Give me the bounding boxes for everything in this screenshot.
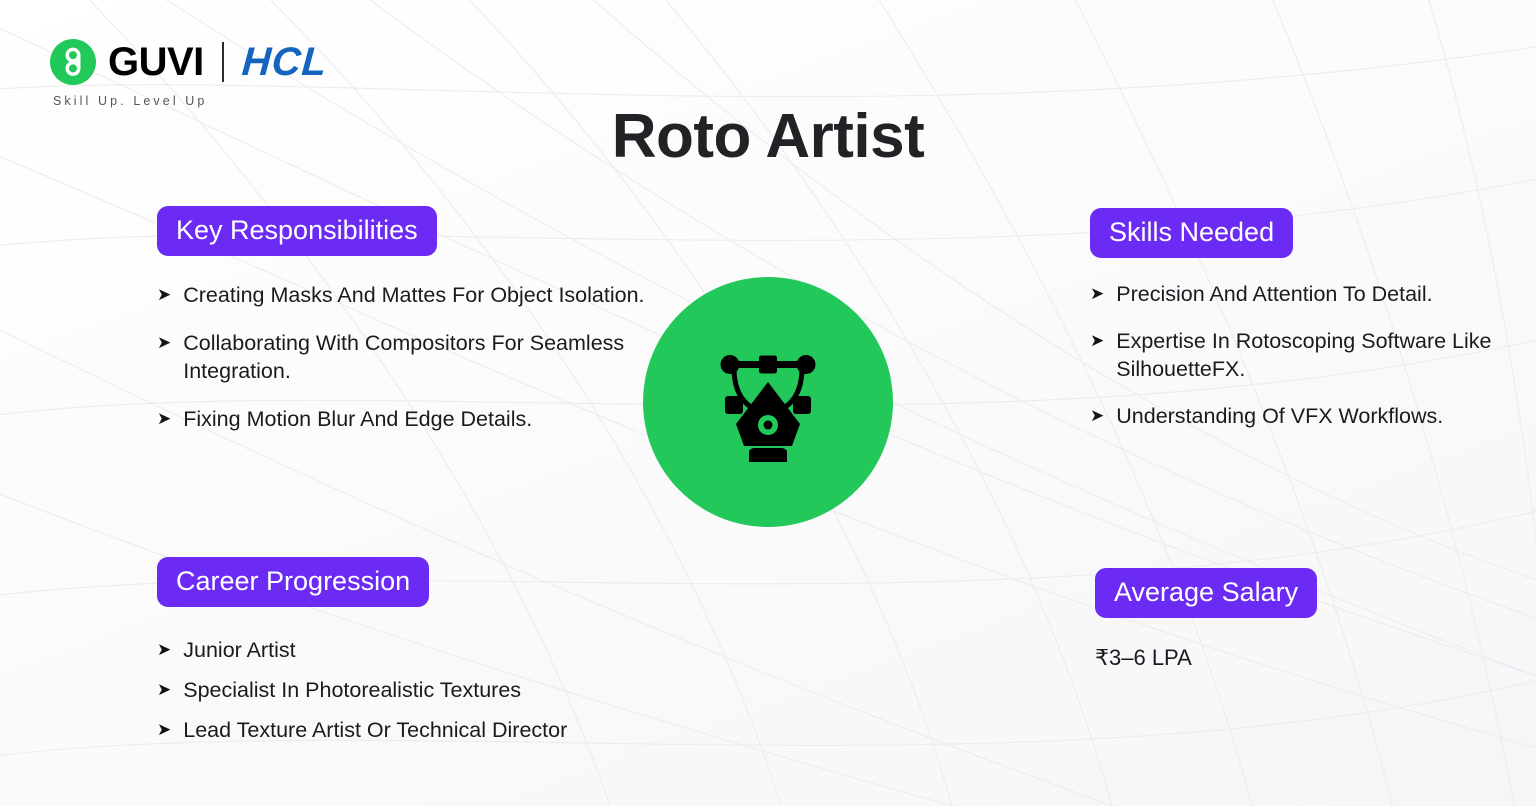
arrow-bullet-icon: ➤ [157,331,171,355]
section-skills-needed: Skills Needed ➤ Precision And Attention … [1090,208,1520,450]
hcl-wordmark: HCL [240,42,328,82]
arrow-bullet-icon: ➤ [1090,329,1104,353]
page-title: Roto Artist [0,104,1536,169]
list-item-label: Lead Texture Artist Or Technical Directo… [183,717,797,745]
list-item-label: Precision And Attention To Detail. [1116,281,1520,309]
badge-average-salary: Average Salary [1095,568,1317,618]
list-item-label: Understanding Of VFX Workflows. [1116,403,1520,431]
pen-tool-icon [708,342,828,462]
list-item: ➤ Creating Masks And Mattes For Object I… [157,282,697,310]
guvi-wordmark: GUVI [108,42,204,82]
arrow-bullet-icon: ➤ [157,638,171,662]
responsibilities-list: ➤ Creating Masks And Mattes For Object I… [157,282,697,434]
list-item: ➤ Fixing Motion Blur And Edge Details. [157,406,697,434]
list-item: ➤ Lead Texture Artist Or Technical Direc… [157,717,797,745]
guvi-g-logo-icon [50,39,96,85]
infographic-poster: GUVI HCL Skill Up. Level Up Roto Artist [0,0,1536,806]
arrow-bullet-icon: ➤ [1090,404,1104,428]
list-item: ➤ Understanding Of VFX Workflows. [1090,403,1520,431]
list-item: ➤ Collaborating With Compositors For Sea… [157,330,697,386]
list-item-label: Creating Masks And Mattes For Object Iso… [183,282,697,310]
list-item-label: Expertise In Rotoscoping Software Like S… [1116,328,1520,384]
salary-value: ₹3–6 LPA [1095,644,1525,673]
arrow-bullet-icon: ➤ [157,283,171,307]
career-list: ➤ Junior Artist ➤ Specialist In Photorea… [157,637,797,745]
badge-career-progression: Career Progression [157,557,429,607]
section-key-responsibilities: Key Responsibilities ➤ Creating Masks An… [157,206,697,434]
list-item-label: Fixing Motion Blur And Edge Details. [183,406,697,434]
list-item-label: Junior Artist [183,637,797,665]
skills-list: ➤ Precision And Attention To Detail. ➤ E… [1090,281,1520,431]
badge-skills-needed: Skills Needed [1090,208,1293,258]
list-item: ➤ Junior Artist [157,637,797,665]
section-career-progression: Career Progression ➤ Junior Artist ➤ Spe… [157,557,797,757]
list-item: ➤ Precision And Attention To Detail. [1090,281,1520,309]
logo-divider [222,42,224,82]
logo-row: GUVI HCL [50,36,327,88]
arrow-bullet-icon: ➤ [157,718,171,742]
badge-key-responsibilities: Key Responsibilities [157,206,437,256]
list-item-label: Collaborating With Compositors For Seaml… [183,330,697,386]
arrow-bullet-icon: ➤ [157,678,171,702]
section-average-salary: Average Salary ₹3–6 LPA [1095,568,1525,673]
list-item: ➤ Specialist In Photorealistic Textures [157,677,797,705]
arrow-bullet-icon: ➤ [157,407,171,431]
brand-logo-block: GUVI HCL Skill Up. Level Up [50,36,327,108]
arrow-bullet-icon: ➤ [1090,282,1104,306]
list-item: ➤ Expertise In Rotoscoping Software Like… [1090,328,1520,384]
list-item-label: Specialist In Photorealistic Textures [183,677,797,705]
